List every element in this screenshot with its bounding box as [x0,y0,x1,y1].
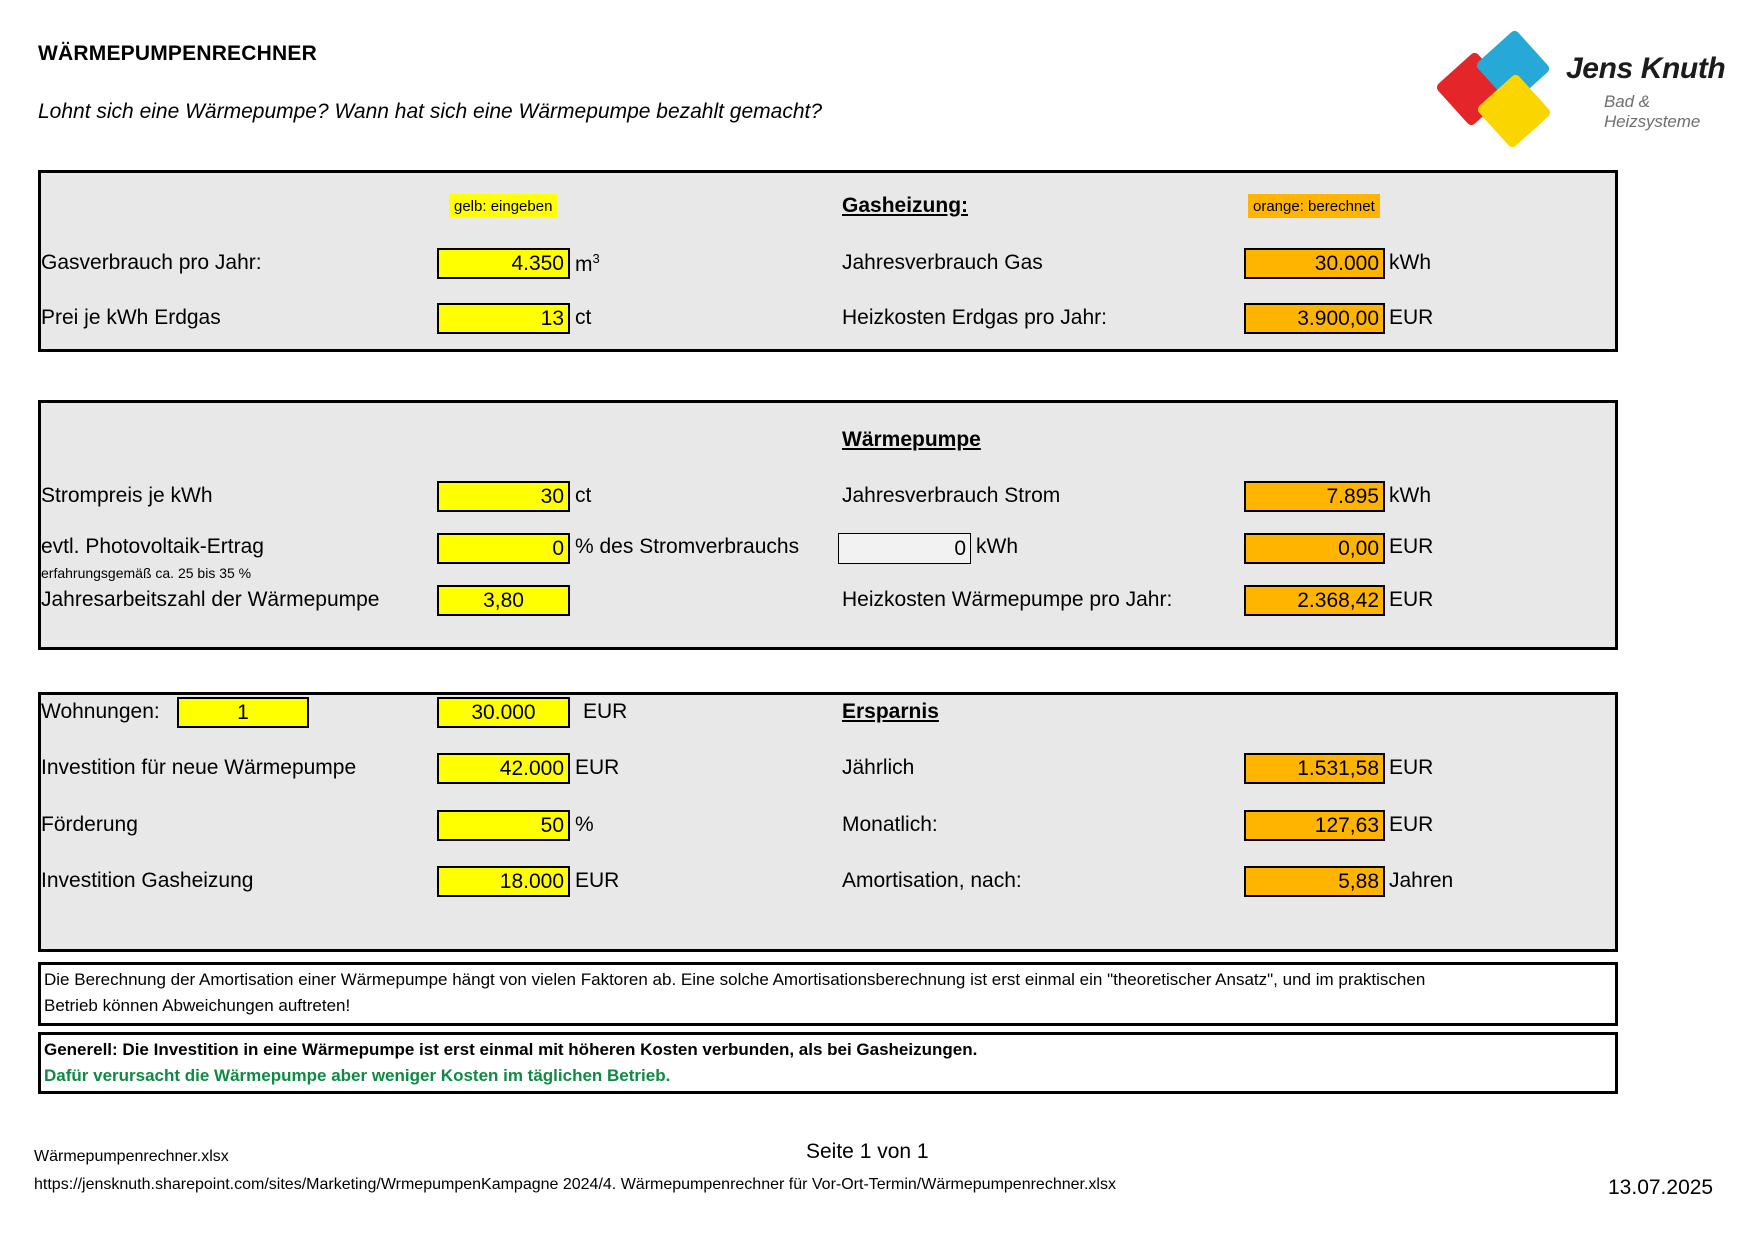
unit-ersparnis-jaehrlich: EUR [1389,756,1433,780]
label-investition-gasheizung: Investition Gasheizung [41,869,253,893]
unit-jahresverbrauch-strom: kWh [1389,484,1431,508]
label-jahresverbrauch-gas: Jahresverbrauch Gas [842,251,1043,275]
footer-file-url: https://jensknuth.sharepoint.com/sites/M… [34,1176,1116,1194]
input-investition-waermepumpe[interactable]: 42.000 [437,753,570,784]
input-kosten-pro-wohnung[interactable]: 30.000 [437,697,570,728]
note-disclaimer-line-2: Betrieb können Abweichungen auftreten! [44,996,350,1016]
label-preis-je-kwh-erdgas: Prei je kWh Erdgas [41,306,221,330]
label-gasverbrauch-pro-jahr: Gasverbrauch pro Jahr: [41,251,262,275]
output-photovoltaik-ersparnis-eur: 0,00 [1244,533,1385,564]
label-ersparnis-jaehrlich: Jährlich [842,756,914,780]
label-heizkosten-waermepumpe-pro-jahr: Heizkosten Wärmepumpe pro Jahr: [842,588,1172,612]
unit-kosten-pro-wohnung: EUR [583,700,627,724]
unit-photovoltaik-ertrag: % des Stromverbrauchs [575,535,799,559]
unit-amortisation: Jahren [1389,869,1453,893]
label-amortisation: Amortisation, nach: [842,869,1022,893]
unit-gasverbrauch-text: m [575,253,593,276]
input-strompreis-je-kwh[interactable]: 30 [437,481,570,512]
note-general-line-1: Generell: Die Investition in eine Wärmep… [44,1040,977,1060]
unit-investition-gasheizung: EUR [575,869,619,893]
input-investition-gasheizung[interactable]: 18.000 [437,866,570,897]
unit-gasverbrauch-exponent: 3 [593,251,600,266]
heading-ersparnis: Ersparnis [842,700,939,724]
unit-preis-je-kwh-erdgas: ct [575,306,591,330]
company-logo: Jens Knuth Bad & Heizsysteme [1444,38,1732,138]
input-foerderung[interactable]: 50 [437,810,570,841]
unit-jahresverbrauch-gas: kWh [1389,251,1431,275]
legend-calculated-chip: orange: berechnet [1248,194,1380,218]
input-gasverbrauch-pro-jahr[interactable]: 4.350 [437,248,570,279]
footer-date: 13.07.2025 [1608,1176,1713,1200]
output-ersparnis-monatlich: 127,63 [1244,810,1385,841]
note-disclaimer-line-1: Die Berechnung der Amortisation einer Wä… [44,970,1425,990]
input-preis-je-kwh-erdgas[interactable]: 13 [437,303,570,334]
output-heizkosten-waermepumpe-pro-jahr: 2.368,42 [1244,585,1385,616]
label-foerderung: Förderung [41,813,138,837]
legend-input-chip: gelb: eingeben [449,194,557,218]
unit-heizkosten-erdgas-pro-jahr: EUR [1389,306,1433,330]
label-strompreis-je-kwh: Strompreis je kWh [41,484,213,508]
page-subtitle: Lohnt sich eine Wärmepumpe? Wann hat sic… [38,100,822,124]
logo-tagline: Bad & Heizsysteme [1604,92,1732,132]
unit-ersparnis-monatlich: EUR [1389,813,1433,837]
unit-strompreis-je-kwh: ct [575,484,591,508]
output-heizkosten-erdgas-pro-jahr: 3.900,00 [1244,303,1385,334]
output-jahresverbrauch-strom: 7.895 [1244,481,1385,512]
output-ersparnis-jaehrlich: 1.531,58 [1244,753,1385,784]
label-investition-waermepumpe: Investition für neue Wärmepumpe [41,756,356,780]
page-title: WÄRMEPUMPENRECHNER [38,42,317,66]
input-jahresarbeitszahl[interactable]: 3,80 [437,585,570,616]
unit-photovoltaik-ersparnis-eur: EUR [1389,535,1433,559]
logo-company-name: Jens Knuth [1566,52,1725,86]
label-wohnungen: Wohnungen: [41,700,160,724]
footer-file-name: Wärmepumpenrechner.xlsx [34,1148,229,1166]
label-heizkosten-erdgas-pro-jahr: Heizkosten Erdgas pro Jahr: [842,306,1107,330]
note-general-line-2: Dafür verursacht die Wärmepumpe aber wen… [44,1066,670,1086]
label-photovoltaik-ertrag: evtl. Photovoltaik-Ertrag [41,535,264,559]
output-amortisation: 5,88 [1244,866,1385,897]
sublabel-photovoltaik-ertrag: erfahrungsgemäß ca. 25 bis 35 % [41,565,251,581]
input-wohnungen[interactable]: 1 [177,697,309,728]
footer-page-number: Seite 1 von 1 [806,1140,929,1164]
unit-investition-waermepumpe: EUR [575,756,619,780]
unit-foerderung: % [575,813,594,837]
label-ersparnis-monatlich: Monatlich: [842,813,938,837]
unit-photovoltaik-kwh: kWh [976,535,1018,559]
input-photovoltaik-ertrag[interactable]: 0 [437,533,570,564]
output-jahresverbrauch-gas: 30.000 [1244,248,1385,279]
label-jahresverbrauch-strom: Jahresverbrauch Strom [842,484,1060,508]
heading-waermepumpe: Wärmepumpe [842,428,981,452]
label-jahresarbeitszahl: Jahresarbeitszahl der Wärmepumpe [41,588,379,612]
unit-gasverbrauch: m3 [575,251,600,277]
output-photovoltaik-kwh: 0 [838,533,971,564]
logo-diamonds-icon [1444,42,1564,138]
unit-heizkosten-waermepumpe-pro-jahr: EUR [1389,588,1433,612]
heading-gasheizung: Gasheizung: [842,194,968,218]
